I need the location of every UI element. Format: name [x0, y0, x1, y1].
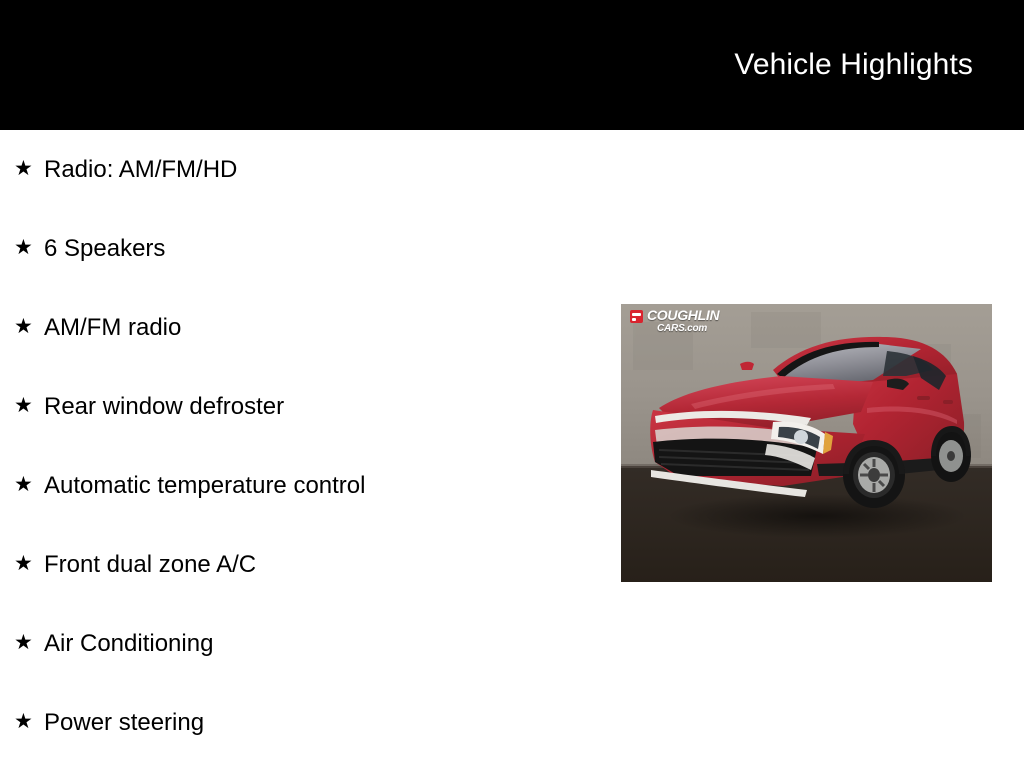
- star-bullet-icon: ★: [14, 711, 44, 732]
- highlight-label: AM/FM radio: [44, 314, 181, 342]
- vehicle-photo: COUGHLIN CARS.com: [621, 304, 992, 582]
- list-item: ★ Air Conditioning: [0, 604, 620, 683]
- star-bullet-icon: ★: [14, 158, 44, 179]
- vehicle-photo-illustration: [621, 304, 992, 582]
- star-bullet-icon: ★: [14, 395, 44, 416]
- star-bullet-icon: ★: [14, 553, 44, 574]
- list-item: ★ Power steering: [0, 683, 620, 762]
- highlight-label: 6 Speakers: [44, 235, 165, 263]
- star-bullet-icon: ★: [14, 632, 44, 653]
- page-title: Vehicle Highlights: [734, 48, 973, 82]
- list-item: ★ 6 Speakers: [0, 209, 620, 288]
- list-item: ★ Automatic temperature control: [0, 446, 620, 525]
- vehicle-highlights-list: ★ Radio: AM/FM/HD ★ 6 Speakers ★ AM/FM r…: [0, 130, 620, 762]
- star-bullet-icon: ★: [14, 237, 44, 258]
- star-bullet-icon: ★: [14, 474, 44, 495]
- highlight-label: Front dual zone A/C: [44, 551, 256, 579]
- header-bar: Vehicle Highlights: [0, 0, 1024, 130]
- highlight-label: Air Conditioning: [44, 630, 213, 658]
- list-item: ★ AM/FM radio: [0, 288, 620, 367]
- highlight-label: Radio: AM/FM/HD: [44, 156, 237, 184]
- highlight-label: Automatic temperature control: [44, 472, 365, 500]
- highlight-label: Rear window defroster: [44, 393, 284, 421]
- highlight-label: Power steering: [44, 709, 204, 737]
- list-item: ★ Radio: AM/FM/HD: [0, 130, 620, 209]
- list-item: ★ Rear window defroster: [0, 367, 620, 446]
- star-bullet-icon: ★: [14, 316, 44, 337]
- list-item: ★ Front dual zone A/C: [0, 525, 620, 604]
